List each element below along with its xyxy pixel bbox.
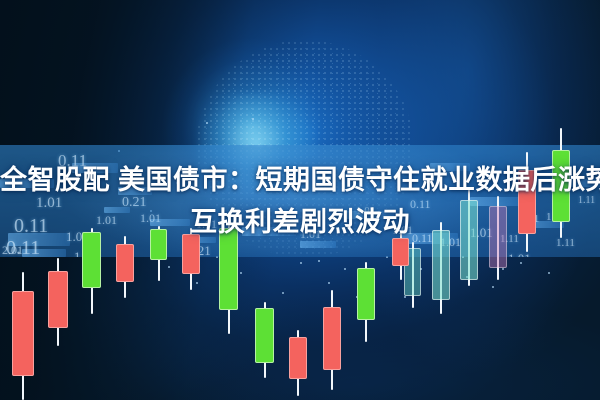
candle-8 [255,302,274,378]
candle-body [255,308,274,363]
candle-body [323,307,341,370]
headline-line-1: 全智股配 美国债市：短期国债守住就业数据后涨势 [0,165,600,195]
candle-9 [289,330,307,396]
headline-text: 全智股配 美国债市：短期国债守住就业数据后涨势 互换利差剧烈波动 [0,159,600,243]
banner-image: 0.110.210.110.211.113.111.010.110.111.01… [0,0,600,400]
candle-11 [357,262,375,342]
headline-line-2: 互换利差剧烈波动 [0,201,600,243]
candle-body [289,337,307,379]
candle-4 [116,236,134,298]
candle-2 [48,258,68,346]
candle-body [12,291,34,376]
candle-body [357,268,375,320]
candle-body [48,271,68,328]
candle-10 [323,290,341,390]
candle-body [116,244,134,282]
candle-1 [12,272,34,400]
